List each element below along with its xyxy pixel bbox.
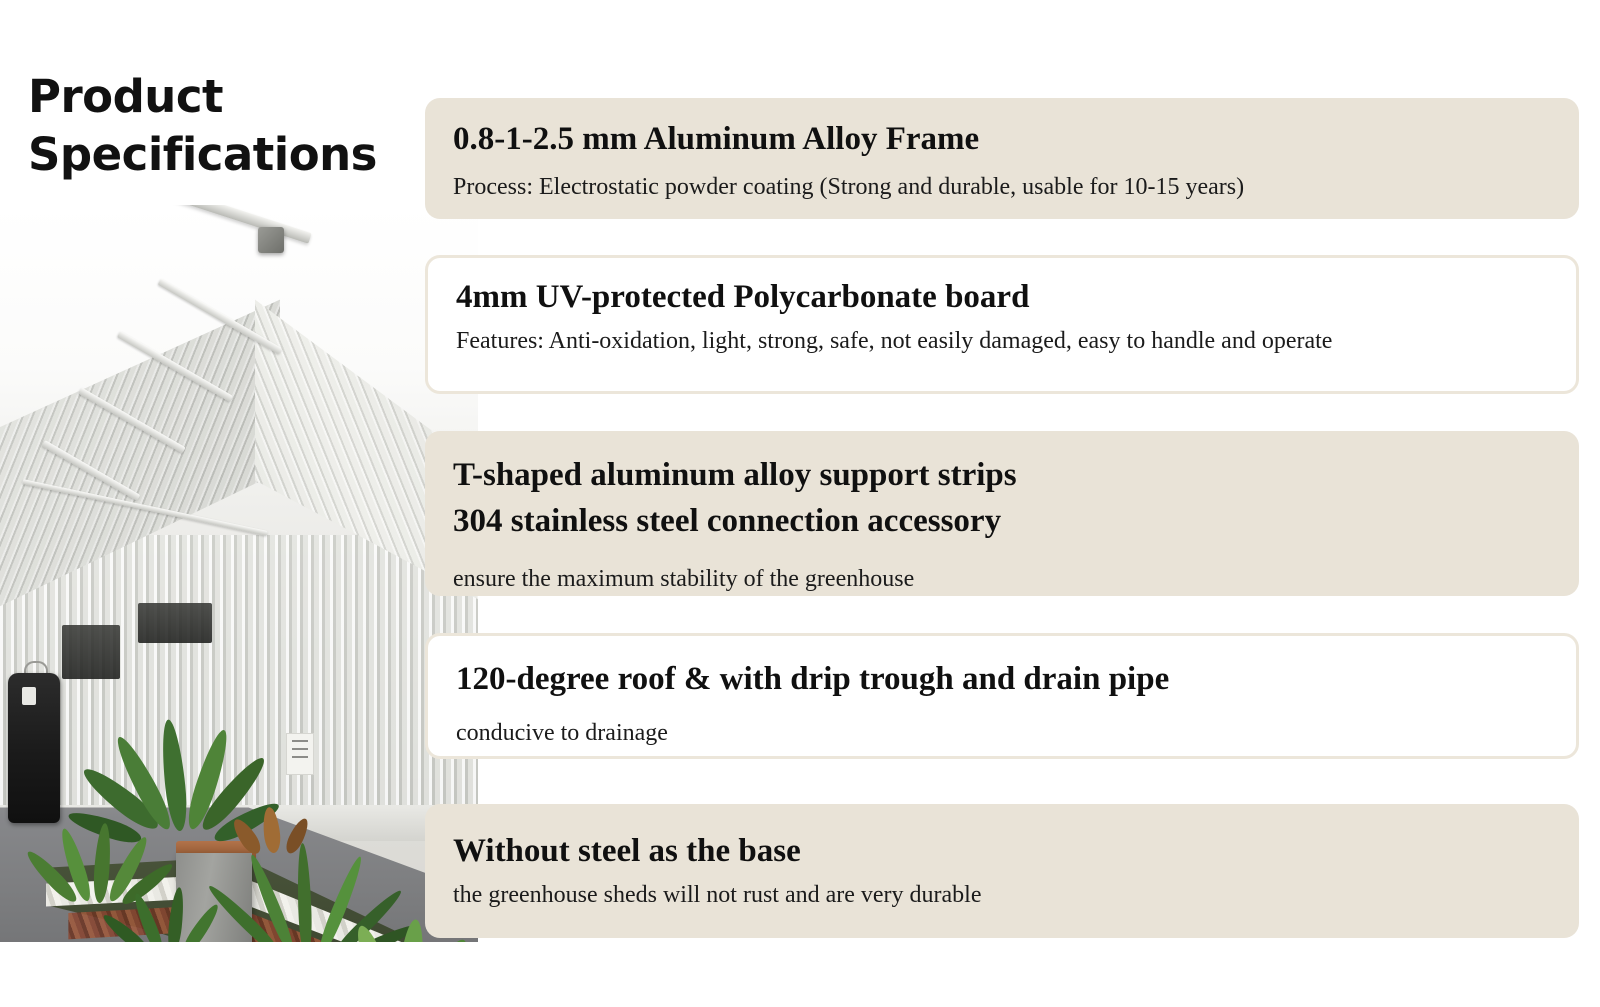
product-specifications-infographic: Product Specifications (0, 0, 1600, 1007)
spec-card-support-strips[interactable]: T-shaped aluminum alloy support strips 3… (425, 431, 1579, 596)
spec-title: Without steel as the base (453, 830, 1553, 874)
spec-subtitle: ensure the maximum stability of the gree… (453, 564, 1553, 595)
spec-title: T-shaped aluminum alloy support strips 3… (453, 453, 1553, 544)
wall-window-opening (62, 625, 120, 679)
ridge-end-cap (258, 227, 284, 253)
spec-card-aluminum-frame[interactable]: 0.8-1-2.5 mm Aluminum Alloy Frame Proces… (425, 98, 1579, 219)
greenhouse-interior-photo (0, 205, 478, 942)
spec-title: 120-degree roof & with drip trough and d… (456, 658, 1550, 702)
spec-card-roof-drainage[interactable]: 120-degree roof & with drip trough and d… (425, 633, 1579, 759)
spec-title: 4mm UV-protected Polycarbonate board (456, 276, 1550, 320)
spec-subtitle: the greenhouse sheds will not rust and a… (453, 880, 1553, 911)
page-title: Product Specifications (28, 68, 428, 183)
fern-plant (124, 877, 234, 942)
spec-subtitle: Features: Anti-oxidation, light, strong,… (456, 326, 1550, 357)
spec-title: 0.8-1-2.5 mm Aluminum Alloy Frame (453, 118, 1553, 162)
wall-sign (286, 733, 314, 775)
dried-branch (240, 801, 310, 861)
spec-subtitle: conducive to drainage (456, 718, 1550, 749)
spec-card-no-steel-base[interactable]: Without steel as the base the greenhouse… (425, 804, 1579, 938)
roof-vent-opening (138, 603, 212, 643)
garment-tag (22, 687, 36, 705)
spec-card-polycarbonate-board[interactable]: 4mm UV-protected Polycarbonate board Fea… (425, 255, 1579, 394)
spec-subtitle: Process: Electrostatic powder coating (S… (453, 172, 1553, 203)
